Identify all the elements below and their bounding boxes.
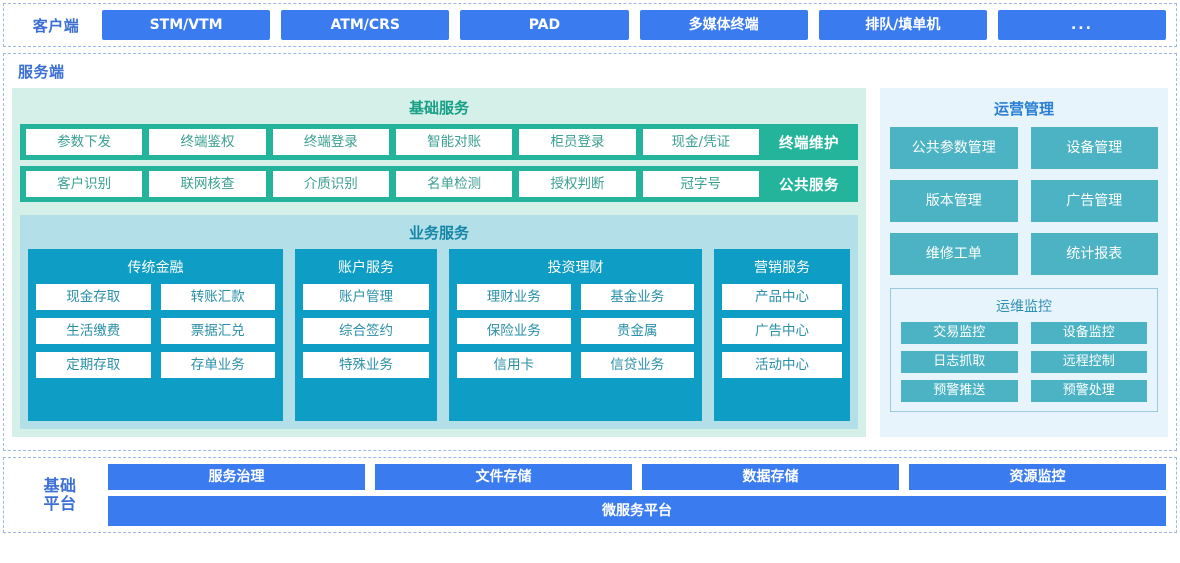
ops-item-public-parameter-management[interactable]: 公共参数管理: [890, 127, 1018, 169]
ops-item-statistical-report[interactable]: 统计报表: [1031, 233, 1159, 275]
basic-item-customer-identify[interactable]: 客户识别: [26, 171, 142, 197]
client-section-title: 客户端: [10, 15, 102, 36]
operations-monitoring-title: 运维监控: [901, 293, 1147, 322]
basic-row-label-public-service: 公共服务: [766, 174, 852, 195]
business-column-title-account-service: 账户服务: [303, 254, 429, 284]
business-grid-traditional-finance: 现金存取 生活缴费 定期存取 转账汇款 票据汇兑 存单业务: [36, 284, 275, 412]
basic-item-serial-number[interactable]: 冠字号: [643, 171, 759, 197]
basic-item-teller-login[interactable]: 柜员登录: [519, 129, 635, 155]
basic-services-row-public-service: 客户识别 联网核查 介质识别 名单检测 授权判断 冠字号 公共服务: [20, 166, 858, 202]
client-item-atm-crs[interactable]: ATM/CRS: [281, 10, 449, 40]
business-column-title-marketing-service: 营销服务: [722, 254, 842, 284]
platform-item-resource-monitoring[interactable]: 资源监控: [909, 464, 1166, 490]
monitor-item-alert-handling[interactable]: 预警处理: [1031, 380, 1148, 402]
business-item-bill-exchange[interactable]: 票据汇兑: [161, 318, 276, 344]
business-item-advertisement-center[interactable]: 广告中心: [722, 318, 842, 344]
ops-item-advertisement-management[interactable]: 广告管理: [1031, 180, 1159, 222]
platform-top-row: 服务治理 文件存储 数据存储 资源监控: [108, 464, 1166, 490]
business-item-activity-center[interactable]: 活动中心: [722, 352, 842, 378]
platform-section: 基础 平台 服务治理 文件存储 数据存储 资源监控 微服务平台: [3, 457, 1177, 533]
basic-item-online-verification[interactable]: 联网核查: [149, 171, 265, 197]
basic-item-smart-reconciliation[interactable]: 智能对账: [396, 129, 512, 155]
operations-management-title: 运营管理: [890, 94, 1158, 127]
client-item-multimedia-terminal[interactable]: 多媒体终端: [640, 10, 808, 40]
basic-services-row-terminal-maintenance: 参数下发 终端鉴权 终端登录 智能对账 柜员登录 现金/凭证 终端维护: [20, 124, 858, 160]
business-item-product-center[interactable]: 产品中心: [722, 284, 842, 310]
business-item-account-management[interactable]: 账户管理: [303, 284, 429, 310]
basic-item-list-check[interactable]: 名单检测: [396, 171, 512, 197]
basic-item-authorization-judgement[interactable]: 授权判断: [519, 171, 635, 197]
platform-section-title: 基础 平台: [12, 477, 108, 514]
monitor-item-remote-control[interactable]: 远程控制: [1031, 351, 1148, 373]
monitor-item-log-capture[interactable]: 日志抓取: [901, 351, 1018, 373]
operations-monitoring-grid: 交易监控 设备监控 日志抓取 远程控制 预警推送 预警处理: [901, 322, 1147, 402]
business-services-title: 业务服务: [28, 219, 850, 249]
business-item-credit-loan[interactable]: 信贷业务: [581, 352, 695, 378]
business-item-living-payment[interactable]: 生活缴费: [36, 318, 151, 344]
business-column-marketing-service: 营销服务 产品中心 广告中心 活动中心: [714, 249, 850, 421]
basic-item-media-recognition[interactable]: 介质识别: [273, 171, 389, 197]
architecture-diagram: 客户端 STM/VTM ATM/CRS PAD 多媒体终端 排队/填单机 ...…: [0, 3, 1180, 563]
platform-item-data-storage[interactable]: 数据存储: [642, 464, 899, 490]
client-item-pad[interactable]: PAD: [460, 10, 628, 40]
business-column-account-service: 账户服务 账户管理 综合签约 特殊业务: [295, 249, 437, 421]
business-subcol: 账户管理 综合签约 特殊业务: [303, 284, 429, 412]
server-section: 服务端 基础服务 参数下发 终端鉴权 终端登录 智能对账 柜员登录 现金/凭证 …: [3, 53, 1177, 451]
business-item-wealth-management[interactable]: 理财业务: [457, 284, 571, 310]
business-column-investment-finance: 投资理财 理财业务 保险业务 信用卡 基金业务 贵金属: [449, 249, 702, 421]
monitor-item-device-monitoring[interactable]: 设备监控: [1031, 322, 1148, 344]
operations-grid: 公共参数管理 设备管理 版本管理 广告管理 维修工单 统计报表: [890, 127, 1158, 275]
business-services-block: 业务服务 传统金融 现金存取 生活缴费 定期存取: [20, 215, 858, 429]
client-item-stm-vtm[interactable]: STM/VTM: [102, 10, 270, 40]
business-item-fixed-deposit[interactable]: 定期存取: [36, 352, 151, 378]
basic-item-param-dispatch[interactable]: 参数下发: [26, 129, 142, 155]
business-item-special-business[interactable]: 特殊业务: [303, 352, 429, 378]
client-item-queue-form-machine[interactable]: 排队/填单机: [819, 10, 987, 40]
operations-monitoring-panel: 运维监控 交易监控 设备监控 日志抓取 远程控制 预警推送 预警处理: [890, 288, 1158, 412]
business-column-traditional-finance: 传统金融 现金存取 生活缴费 定期存取 转账汇款 票据汇兑: [28, 249, 283, 421]
business-column-title-traditional-finance: 传统金融: [36, 254, 275, 284]
platform-title-line2: 平台: [12, 495, 108, 513]
business-column-title-investment-finance: 投资理财: [457, 254, 694, 284]
monitor-item-transaction-monitoring[interactable]: 交易监控: [901, 322, 1018, 344]
ops-item-version-management[interactable]: 版本管理: [890, 180, 1018, 222]
platform-item-service-governance[interactable]: 服务治理: [108, 464, 365, 490]
services-column: 基础服务 参数下发 终端鉴权 终端登录 智能对账 柜员登录 现金/凭证 终端维护…: [12, 88, 866, 437]
business-subcol: 理财业务 保险业务 信用卡: [457, 284, 571, 412]
basic-item-terminal-login[interactable]: 终端登录: [273, 129, 389, 155]
business-item-credit-card[interactable]: 信用卡: [457, 352, 571, 378]
client-section: 客户端 STM/VTM ATM/CRS PAD 多媒体终端 排队/填单机 ...: [3, 3, 1177, 47]
monitor-item-alert-push[interactable]: 预警推送: [901, 380, 1018, 402]
business-item-comprehensive-signing[interactable]: 综合签约: [303, 318, 429, 344]
business-item-insurance[interactable]: 保险业务: [457, 318, 571, 344]
business-item-cash-deposit-withdraw[interactable]: 现金存取: [36, 284, 151, 310]
basic-item-cash-voucher[interactable]: 现金/凭证: [643, 129, 759, 155]
business-item-certificate-deposit[interactable]: 存单业务: [161, 352, 276, 378]
ops-item-device-management[interactable]: 设备管理: [1031, 127, 1159, 169]
platform-title-line1: 基础: [12, 477, 108, 495]
client-item-more[interactable]: ...: [998, 10, 1166, 40]
basic-row-label-terminal-maintenance: 终端维护: [766, 132, 852, 153]
business-item-fund[interactable]: 基金业务: [581, 284, 695, 310]
client-items: STM/VTM ATM/CRS PAD 多媒体终端 排队/填单机 ...: [102, 10, 1170, 40]
ops-item-repair-work-order[interactable]: 维修工单: [890, 233, 1018, 275]
server-section-title: 服务端: [18, 61, 1168, 82]
business-grid-account-service: 账户管理 综合签约 特殊业务: [303, 284, 429, 412]
platform-item-microservice-platform[interactable]: 微服务平台: [108, 496, 1166, 526]
business-item-transfer-remittance[interactable]: 转账汇款: [161, 284, 276, 310]
business-grid-investment-finance: 理财业务 保险业务 信用卡 基金业务 贵金属 信贷业务: [457, 284, 694, 412]
business-subcol: 产品中心 广告中心 活动中心: [722, 284, 842, 412]
business-subcol: 转账汇款 票据汇兑 存单业务: [161, 284, 276, 412]
business-grid-marketing-service: 产品中心 广告中心 活动中心: [722, 284, 842, 412]
basic-item-terminal-auth[interactable]: 终端鉴权: [149, 129, 265, 155]
business-subcol: 基金业务 贵金属 信贷业务: [581, 284, 695, 412]
platform-item-file-storage[interactable]: 文件存储: [375, 464, 632, 490]
business-item-precious-metal[interactable]: 贵金属: [581, 318, 695, 344]
business-columns: 传统金融 现金存取 生活缴费 定期存取 转账汇款 票据汇兑: [28, 249, 850, 421]
basic-services-title: 基础服务: [20, 94, 858, 124]
platform-items: 服务治理 文件存储 数据存储 资源监控 微服务平台: [108, 464, 1168, 526]
business-subcol: 现金存取 生活缴费 定期存取: [36, 284, 151, 412]
server-body: 基础服务 参数下发 终端鉴权 终端登录 智能对账 柜员登录 现金/凭证 终端维护…: [12, 88, 1168, 437]
operations-management-panel: 运营管理 公共参数管理 设备管理 版本管理 广告管理 维修工单 统计报表 运维监…: [880, 88, 1168, 437]
